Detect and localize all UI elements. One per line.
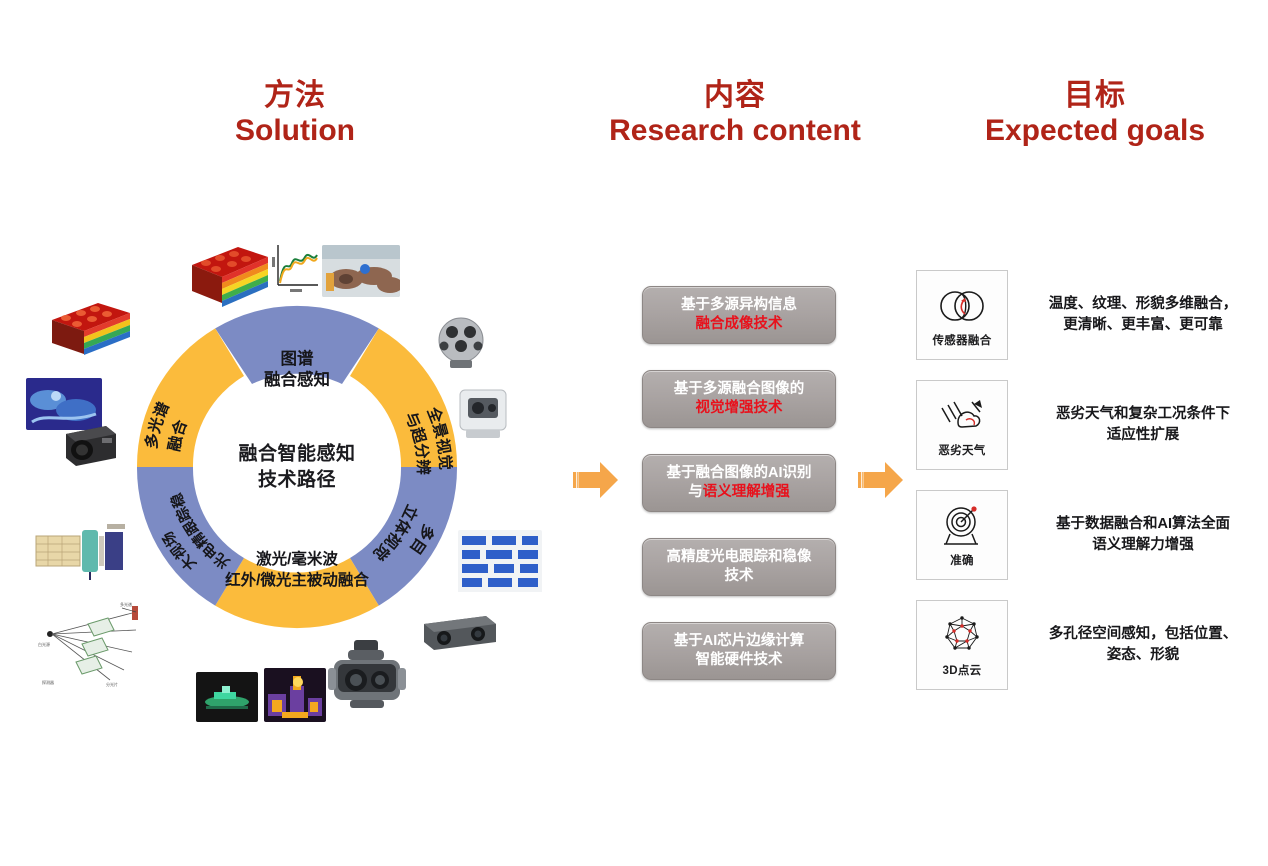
svg-text:探测器: 探测器: [42, 679, 54, 685]
decorative-image-industrial-camera: [58, 420, 120, 472]
content-box-text: 基于AI芯片边缘计算 智能硬件技术: [674, 632, 805, 670]
goal-card-caption: 传感器融合: [933, 332, 992, 348]
research-content-column: 基于多源异构信息 融合成像技术 基于多源融合图像的 视觉增强技术 基于融合图像的…: [642, 286, 836, 706]
content-box-visual-enhancement[interactable]: 基于多源融合图像的 视觉增强技术: [642, 370, 836, 428]
header-solution-cn: 方法: [120, 78, 470, 113]
goal-card-caption: 恶劣天气: [938, 442, 985, 458]
column-header-solution: 方法 Solution: [120, 78, 470, 149]
column-header-research-content: 内容 Research content: [520, 78, 950, 149]
content-box-ai-chip-edge-computing[interactable]: 基于AI芯片边缘计算 智能硬件技术: [642, 622, 836, 680]
arrow-content-to-goals: [858, 459, 906, 501]
donut-label-laser-fusion-line2: 红外/微光主被动融合: [225, 570, 369, 589]
content-box-text: 基于多源异构信息 融合成像技术: [681, 296, 797, 334]
arrow-solution-to-content: [573, 459, 621, 501]
goal-row-severe-weather: 恶劣天气 恶劣天气和复杂工况条件下 适应性扩展: [916, 380, 1256, 470]
header-solution-en: Solution: [120, 113, 470, 148]
donut-center-label: 融合智能感知 技术路径: [202, 441, 392, 492]
content-box-text: 基于多源融合图像的 视觉增强技术: [674, 380, 805, 418]
donut-label-laser-fusion-line1: 激光/毫米波: [256, 549, 338, 568]
decorative-image-spectrum-plot: [268, 237, 322, 299]
solution-donut-chart: 图谱 融合感知 激光/毫米波 红外/微光主被动融合 全景视觉 与超分辨视觉 多目…: [122, 292, 472, 642]
header-content-en: Research content: [520, 113, 950, 148]
goal-description-point-cloud-3d: 多孔径空间感知，包括位置、 姿态、形貌: [1008, 600, 1256, 690]
donut-label-spectral-fusion-sensing-line1: 图谱: [281, 348, 315, 368]
goal-card-caption: 准确: [950, 552, 974, 568]
content-box-text: 基于融合图像的AI识别 与语义理解增强: [667, 464, 812, 502]
header-goals-en: Expected goals: [930, 113, 1260, 148]
goal-card-point-cloud-3d[interactable]: 3D点云: [916, 600, 1008, 690]
content-box-multi-source-fusion-imaging[interactable]: 基于多源异构信息 融合成像技术: [642, 286, 836, 344]
decorative-image-thermal-machinery: [264, 668, 326, 722]
header-goals-cn: 目标: [930, 78, 1260, 113]
point-cloud-sphere-icon: [936, 612, 988, 660]
content-box-text: 高精度光电跟踪和稳像 技术: [667, 548, 812, 586]
svg-text:白光源: 白光源: [38, 641, 50, 647]
decorative-image-gimbal-eo-ir-turret: [324, 638, 410, 720]
column-header-expected-goals: 目标 Expected goals: [930, 78, 1260, 149]
venn-circles-icon: [936, 282, 988, 330]
svg-text:分光片: 分光片: [106, 681, 118, 687]
donut-center-line2: 技术路径: [202, 467, 392, 493]
target-dart-icon: [936, 502, 988, 550]
goal-description-accuracy: 基于数据融合和AI算法全面 语义理解力增强: [1008, 490, 1256, 580]
donut-center-line1: 融合智能感知: [202, 441, 392, 467]
expected-goals-column: 传感器融合 温度、纹理、形貌多维融合， 更清晰、更丰富、更可靠: [916, 270, 1256, 710]
goal-row-sensor-fusion: 传感器融合 温度、纹理、形貌多维融合， 更清晰、更丰富、更可靠: [916, 270, 1256, 360]
goal-row-point-cloud-3d: 3D点云 多孔径空间感知，包括位置、 姿态、形貌: [916, 600, 1256, 690]
goal-card-sensor-fusion[interactable]: 传感器融合: [916, 270, 1008, 360]
goal-description-severe-weather: 恶劣天气和复杂工况条件下 适应性扩展: [1008, 380, 1256, 470]
content-box-high-precision-tracking[interactable]: 高精度光电跟踪和稳像 技术: [642, 538, 836, 596]
goal-card-accuracy[interactable]: 准确: [916, 490, 1008, 580]
decorative-image-thermal-ship: [196, 672, 258, 722]
header-content-cn: 内容: [520, 78, 950, 113]
decorative-image-pipeline-inspection-photo: [322, 245, 400, 297]
goal-row-accuracy: 准确 基于数据融合和AI算法全面 语义理解力增强: [916, 490, 1256, 580]
donut-segment-laser-mmwave-ir-lowlight-fusion[interactable]: [215, 558, 379, 628]
donut-label-spectral-fusion-sensing-line2: 融合感知: [264, 369, 330, 389]
rain-cloud-icon: [936, 392, 988, 440]
content-box-ai-recognition-semantic[interactable]: 基于融合图像的AI识别 与语义理解增强: [642, 454, 836, 512]
goal-description-sensor-fusion: 温度、纹理、形貌多维融合， 更清晰、更丰富、更可靠: [1008, 270, 1256, 360]
goal-card-severe-weather[interactable]: 恶劣天气: [916, 380, 1008, 470]
goal-card-caption: 3D点云: [943, 662, 982, 678]
